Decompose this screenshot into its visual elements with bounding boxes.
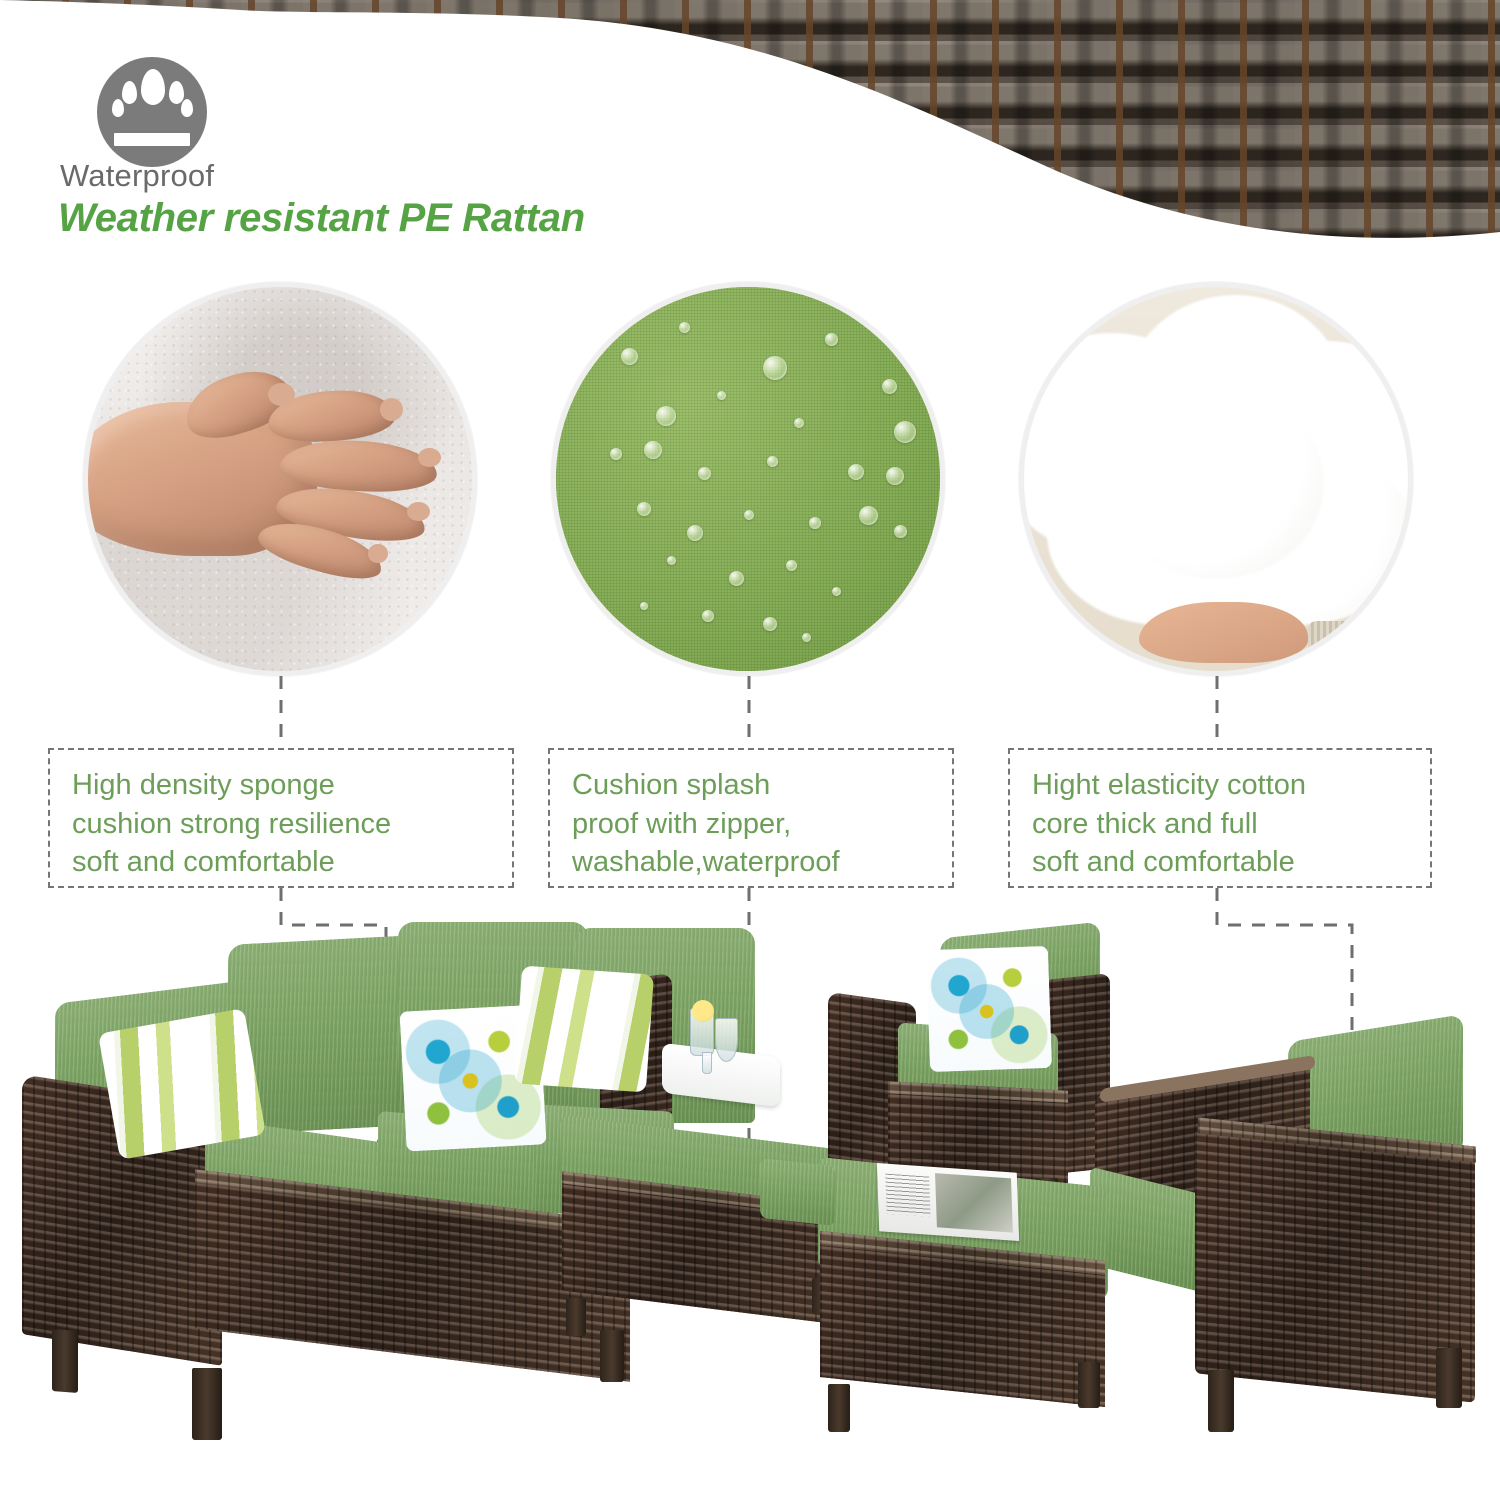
feature-image-high-elasticity-cotton	[1019, 282, 1413, 676]
waterproof-label: Waterproof	[60, 158, 214, 194]
striped-pillow	[98, 1008, 266, 1160]
waterproof-droplets-icon	[97, 57, 207, 167]
infographic-canvas: Waterproof Weather resistant PE Rattan	[0, 0, 1500, 1500]
feature-caption-splash-proof: Cushion splash proof with zipper, washab…	[548, 748, 954, 888]
feature-caption-cotton: Hight elasticity cotton core thick and f…	[1008, 748, 1432, 888]
surface-bar	[114, 133, 190, 146]
feature-caption-sponge: High density sponge cushion strong resil…	[48, 748, 514, 888]
product-scene	[0, 900, 1500, 1500]
sleeve-cuff	[1308, 621, 1377, 671]
lemon-slice	[692, 1000, 714, 1022]
waterproof-badge	[97, 57, 207, 167]
striped-pillow-right	[514, 966, 654, 1093]
page-title: Weather resistant PE Rattan	[58, 196, 585, 241]
feature-image-cushion-splash-proof	[551, 282, 945, 676]
medallion-pillow-chair	[926, 946, 1052, 1072]
magazine	[877, 1163, 1019, 1241]
feature-image-high-density-sponge	[83, 282, 477, 676]
hand-holding-cotton	[1139, 602, 1308, 663]
